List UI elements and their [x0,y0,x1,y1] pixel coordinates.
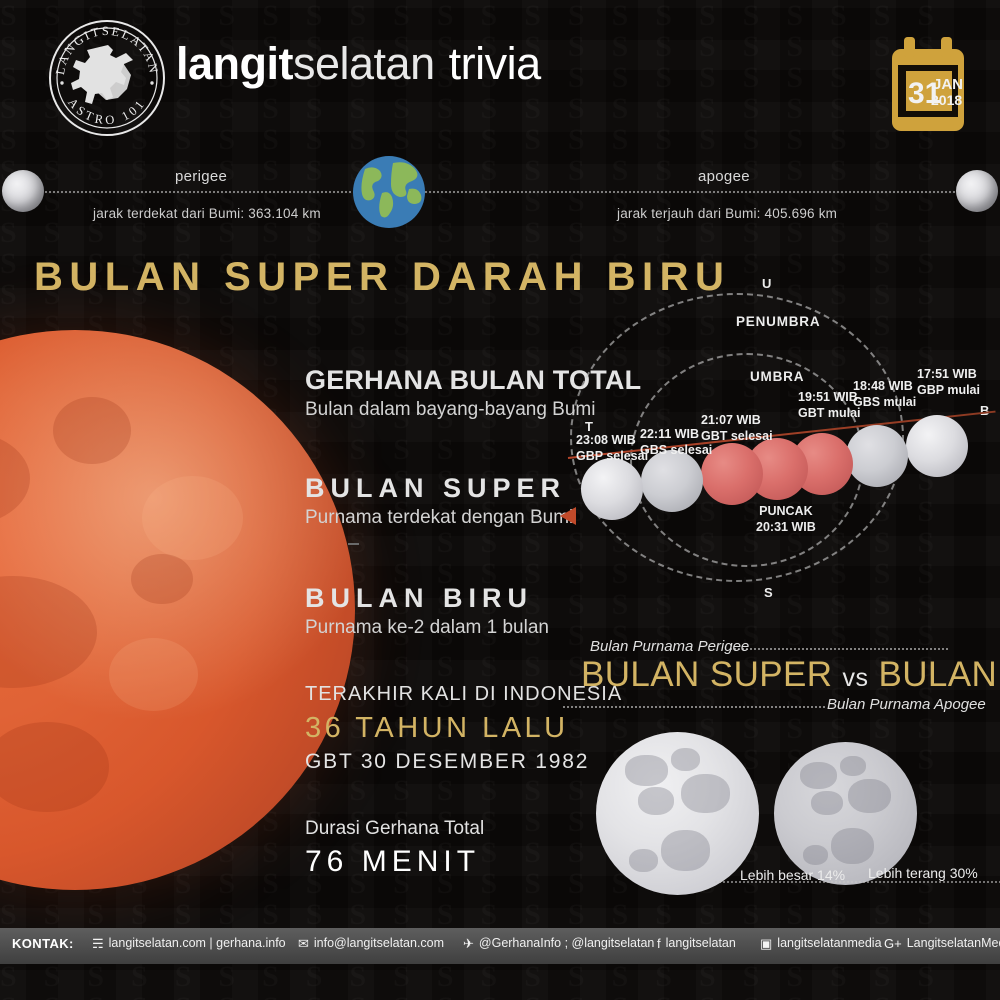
perigee-apogee-diagram: perigee jarak terdekat dari Bumi: 363.10… [0,150,1000,258]
feature-subtitle: Purnama terdekat dengan Bumi [305,507,573,529]
path-arrow-icon [560,507,576,525]
earth-icon [352,155,426,229]
contact-email[interactable]: ✉ info@langitselatan.com [298,936,444,950]
contact-facebook[interactable]: f langitselatan [657,936,736,950]
brand-wordmark: langitselatantrivia [176,38,541,90]
duration-value: 76 MENIT [305,845,484,879]
contact-website-text: langitselatan.com | gerhana.info [109,936,286,950]
feature-subtitle: Purnama ke-2 dalam 1 bulan [305,617,549,639]
super-vs-mini-section: Bulan Purnama Perigee BULAN SUPER vs BUL… [560,630,1000,895]
twitter-icon: ✈ [463,937,474,950]
calendar-icon: 31 JAN 2018 [886,35,970,135]
duration-block: Durasi Gerhana Total 76 MENIT [305,818,484,879]
phase-label-gbt-selesai: 21:07 WIB GBT selesai [701,413,773,444]
micromoon-illustration [774,742,917,885]
calendar-year: 2018 [931,92,962,108]
perigee-moon-icon [2,170,44,212]
brand-langit: langit [176,38,293,89]
moon-phase-gbs-mulai [846,425,908,487]
header: LANGITSELATAN ASTRO 101 langitselatantri… [0,0,1000,150]
contact-label: KONTAK: [12,936,74,951]
contact-email-text: info@langitselatan.com [314,936,444,950]
contact-instagram[interactable]: ▣ langitselatanmedia [760,936,882,950]
contact-instagram-text: langitselatanmedia [777,936,881,950]
orbit-axis-line [26,191,974,193]
contact-facebook-text: langitselatan [666,936,736,950]
phase-label-gbs-mulai: 18:48 WIB GBS mulai [853,379,916,410]
contact-twitter-text: @GerhanaInfo ; @langitselatan [479,936,654,950]
brand-selatan: selatan [293,38,435,89]
langitselatan-logo: LANGITSELATAN ASTRO 101 [46,17,168,139]
phase-label-gbp-selesai: 23:08 WIB GBP selesai [576,433,648,464]
feature-bulan-super: BULAN SUPER Purnama terdekat dengan Bumi [305,473,573,529]
apogee-label: apogee [698,168,750,185]
apogee-distance: jarak terjauh dari Bumi: 405.696 km [617,206,837,221]
penumbra-label: PENUMBRA [736,314,820,329]
perigee-label: perigee [175,168,227,185]
rss-icon: ☴ [92,937,104,950]
moon-phase-gbp-mulai [906,415,968,477]
divider-dash [348,543,359,545]
infographic-canvas: SSSSSSSSSSSSSSSSSSSSSSSSSSSSSSSSSSSSSSSS… [0,0,1000,1000]
duration-heading: Durasi Gerhana Total [305,818,484,840]
feature-bulan-biru: BULAN BIRU Purnama ke-2 dalam 1 bulan [305,583,549,639]
svg-text:ASTRO 101: ASTRO 101 [65,95,149,127]
calendar-month: JAN [933,76,963,93]
phase-label-gbt-mulai: 19:51 WIB GBT mulai [798,390,861,421]
caption-brightness-difference: Lebih terang 30% [868,865,978,881]
perigee-distance: jarak terdekat dari Bumi: 363.104 km [93,206,321,221]
caption-leader-line-bottom [563,706,825,708]
brand-trivia: trivia [449,38,541,89]
apogee-caption: Bulan Purnama Apogee [827,696,986,713]
phase-label-gbp-mulai: 17:51 WIB GBP mulai [917,367,980,398]
peak-label: PUNCAK 20:31 WIB [756,503,816,535]
blood-moon-image [0,330,355,890]
eclipse-path-diagram: U PENUMBRA UMBRA S T B 23:08 WIB GBP sel… [560,275,1000,615]
moon-phase-gbs-selesai [641,450,703,512]
feature-title: BULAN BIRU [305,583,549,614]
contact-googleplus-text: LangitselatanMedia [907,936,1000,950]
contact-website[interactable]: ☴ langitselatan.com | gerhana.info [92,936,286,950]
moon-phase-gbp-selesai [581,458,643,520]
contact-googleplus[interactable]: G+ LangitselatanMedia [884,936,1000,950]
perigee-caption: Bulan Purnama Perigee [590,638,749,655]
caption-leader-line-top [730,648,948,650]
contact-twitter[interactable]: ✈ @GerhanaInfo ; @langitselatan [463,936,654,950]
feature-title: BULAN SUPER [305,473,573,504]
apogee-moon-icon [956,170,998,212]
envelope-icon: ✉ [298,937,309,950]
umbra-label: UMBRA [750,369,804,384]
instagram-icon: ▣ [760,937,772,950]
caption-size-difference: Lebih besar 14% [740,867,845,883]
google-plus-icon: G+ [884,937,902,950]
marker-up: U [762,276,772,291]
marker-west: T [585,419,594,434]
compare-title: BULAN SUPER vs BULAN MINI [581,655,1000,695]
marker-south: S [764,585,773,600]
facebook-icon: f [657,937,661,950]
supermoon-illustration [596,732,759,895]
